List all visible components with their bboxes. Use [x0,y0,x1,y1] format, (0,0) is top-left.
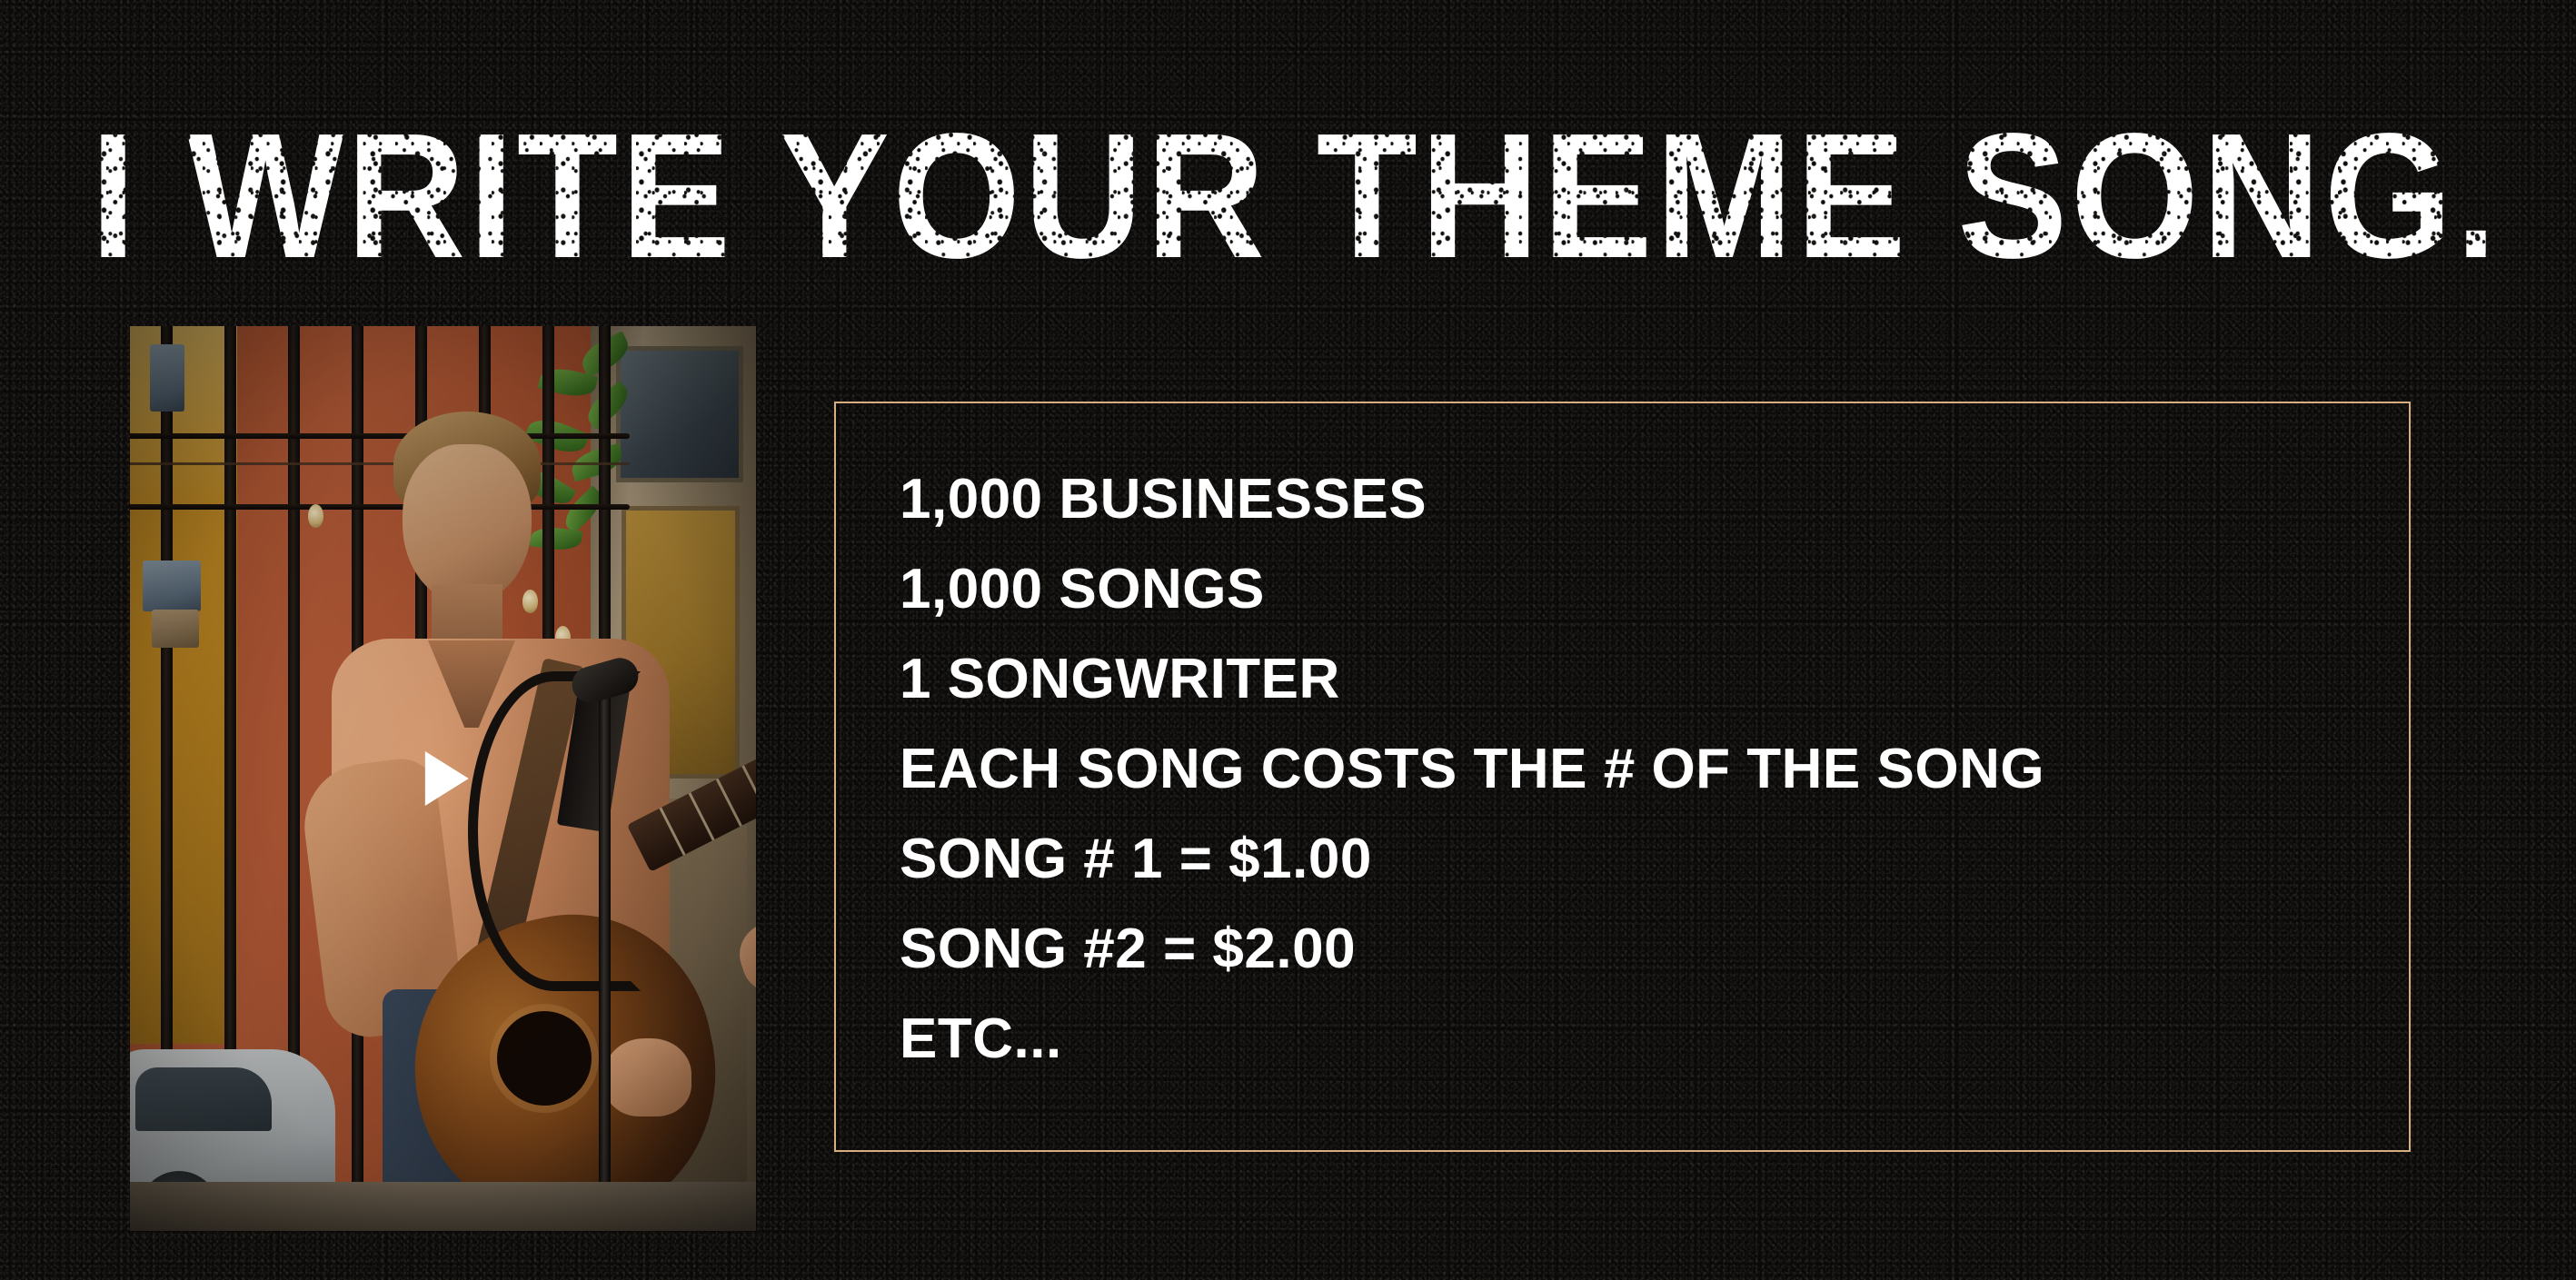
list-item: 1,000 BUSINESSES [900,454,2353,544]
list-item: ETC... [900,994,2353,1084]
video-player[interactable] [130,326,756,1231]
strumming-hand [604,1038,691,1116]
singer [299,412,690,1231]
play-icon[interactable] [424,751,468,806]
page-root: I WRITE YOUR THEME SONG.COM [0,0,2576,1280]
pricing-info-list: 1,000 BUSINESSES 1,000 SONGS 1 SONGWRITE… [900,454,2353,1084]
list-item: EACH SONG COSTS THE # OF THE SONG [900,724,2353,814]
list-item: SONG #2 = $2.00 [900,904,2353,994]
list-item: SONG # 1 = $1.00 [900,814,2353,904]
singer-face [403,444,532,604]
microphone-stand [599,684,611,1231]
list-item: 1 SONGWRITER [900,634,2353,724]
sidewalk [130,1182,756,1231]
list-item: 1,000 SONGS [900,544,2353,634]
page-title: I WRITE YOUR THEME SONG.COM [90,105,2486,287]
car-window [135,1067,272,1131]
